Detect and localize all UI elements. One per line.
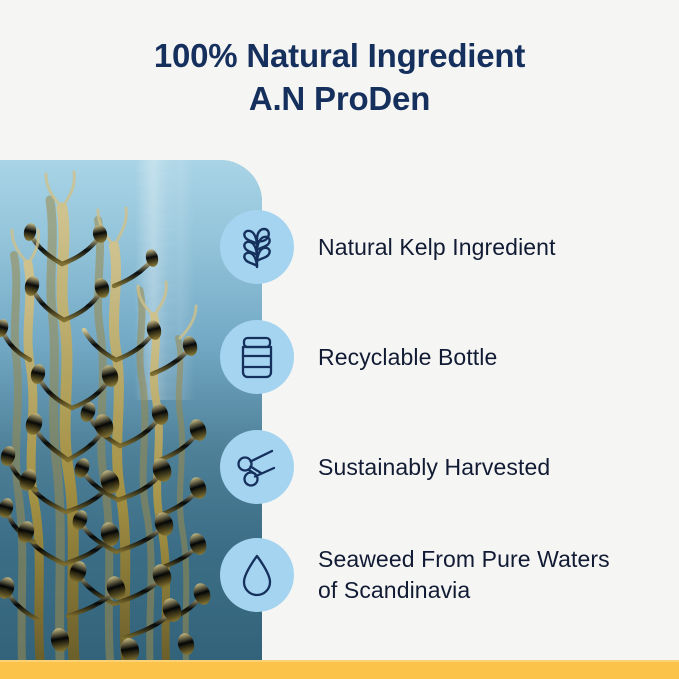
scissors-icon	[220, 430, 294, 504]
bottom-accent-band	[0, 660, 679, 679]
feature-row-recyclable-bottle[interactable]: Recyclable Bottle	[220, 319, 650, 395]
feature-label-sustainably-harvested: Sustainably Harvested	[318, 452, 550, 483]
feature-label-line-2: of Scandinavia	[318, 575, 610, 606]
page-title: 100% Natural Ingredient A.N ProDen	[0, 34, 679, 120]
feature-label-line-1: Seaweed From Pure Waters	[318, 546, 610, 572]
infographic-page: 100% Natural Ingredient A.N ProDen	[0, 0, 679, 679]
feature-row-pure-waters[interactable]: Seaweed From Pure Waters of Scandinavia	[220, 537, 650, 613]
water-drop-icon	[220, 538, 294, 612]
feature-label-pure-waters: Seaweed From Pure Waters of Scandinavia	[318, 544, 610, 606]
feature-label-recyclable-bottle: Recyclable Bottle	[318, 342, 497, 373]
feature-label-line-1: Natural Kelp Ingredient	[318, 234, 556, 260]
page-title-line-2: A.N ProDen	[0, 77, 679, 120]
feature-label-natural-kelp: Natural Kelp Ingredient	[318, 232, 556, 263]
feature-label-line-1: Sustainably Harvested	[318, 454, 550, 480]
bottle-jar-icon	[220, 320, 294, 394]
feature-row-sustainably-harvested[interactable]: Sustainably Harvested	[220, 429, 650, 505]
kelp-leaf-icon	[220, 210, 294, 284]
page-title-line-1: 100% Natural Ingredient	[0, 34, 679, 77]
feature-label-line-1: Recyclable Bottle	[318, 344, 497, 370]
feature-row-natural-kelp[interactable]: Natural Kelp Ingredient	[220, 209, 650, 285]
